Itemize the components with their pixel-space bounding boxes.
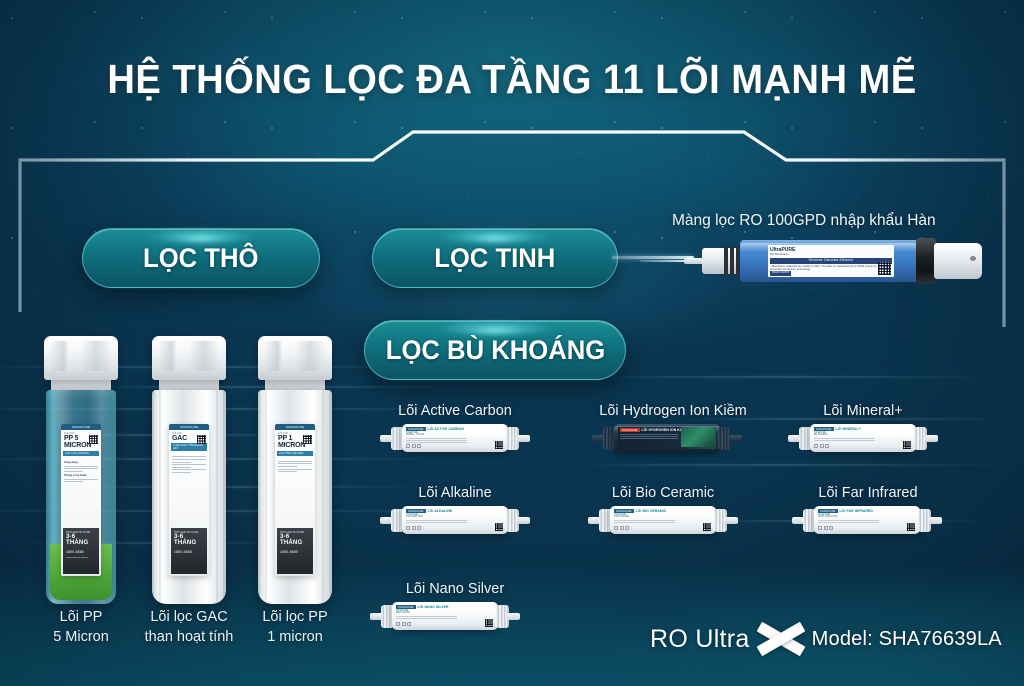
cartridge-title: LÕI FAR INFRARED bbox=[840, 509, 873, 513]
cartridge-strip: LỌC TINH CẶN BẨN bbox=[277, 451, 313, 456]
qr-code-icon bbox=[495, 523, 503, 531]
cartridge-strip: LỌC THÔ CẶN BẨN bbox=[63, 451, 99, 456]
qr-code-icon bbox=[703, 523, 711, 531]
membrane-end-cap bbox=[934, 243, 982, 279]
cartridge-spec-block: Công dụng Thông số kỹ thuật bbox=[61, 457, 101, 486]
badge-fine-filter[interactable]: LỌC TINH bbox=[372, 228, 618, 288]
membrane-wire bbox=[640, 260, 686, 262]
cartridge-lifetime-block: THỜI GIAN SỬ DỤNG 3-6 THÁNG 1800-6680 bbox=[277, 528, 313, 574]
cartridge-spec-block bbox=[169, 453, 209, 477]
cartridge-title: LÕI NANO SILVER bbox=[418, 605, 449, 609]
cartridge-mineral-plus: SUNHOUSE LÕI MINERAL+ UltraPURE BÙ KHOÁN… bbox=[788, 423, 938, 453]
cartridge-code: TẠO KHOÁNG bbox=[614, 516, 712, 518]
qr-code-icon bbox=[303, 435, 312, 444]
membrane-nozzle bbox=[702, 248, 740, 274]
ro-membrane-caption: Màng lọc RO 100GPD nhập khẩu Hàn bbox=[672, 212, 936, 230]
cartridge-hotline: 1800-6680 bbox=[174, 550, 204, 554]
housing-pp1: SUNHOUSE LÕI LỌC PP 1 MICRON LỌC TINH CẶ… bbox=[258, 336, 332, 604]
cartridge-code: BÙ KHOÁNG bbox=[814, 434, 912, 436]
housing-cap bbox=[152, 336, 226, 380]
membrane-port-hole bbox=[970, 256, 976, 261]
label-mineral-plus: Lõi Mineral+ bbox=[748, 403, 978, 419]
cartridge-period: 3-6 THÁNG bbox=[174, 534, 204, 546]
badge-fine-label: LỌC TINH bbox=[434, 243, 555, 274]
cartridge-stem-right bbox=[729, 435, 742, 442]
qr-code-icon bbox=[197, 435, 206, 444]
brand-name: RO Ultra bbox=[650, 625, 750, 654]
ro-membrane-image: UltraPURE RO Membrane Reverse Osmosis El… bbox=[684, 238, 988, 284]
cartridge-code: DIỆT KHUẨN bbox=[396, 612, 494, 614]
label-bio-ceramic: Lõi Bio Ceramic bbox=[548, 485, 778, 501]
connector-line bbox=[612, 256, 694, 259]
housing-label-line2: 5 Micron bbox=[20, 628, 142, 648]
qr-code-icon bbox=[89, 435, 98, 444]
cartridge-title: LÕI ALKALINE bbox=[428, 509, 453, 513]
cartridge-code: HOẠT HÓA NƯỚC bbox=[818, 516, 916, 518]
cartridge-period: 3-6 THÁNG bbox=[280, 534, 310, 546]
membrane-product-label: UltraPURE RO Membrane Reverse Osmosis El… bbox=[768, 245, 894, 277]
cartridge-stem-right bbox=[925, 435, 938, 442]
poster-canvas: HỆ THỐNG LỌC ĐA TẦNG 11 LÕI MẠNH MẼ LỌC … bbox=[0, 0, 1024, 686]
x-mark-icon bbox=[759, 624, 803, 654]
housing-gac: SUNHOUSE LÕI LỌC GAC THAN HOẠT TÍNH DẠNG… bbox=[152, 336, 226, 604]
badge-mineral-label: LỌC BÙ KHOÁNG bbox=[385, 335, 604, 366]
housing-bowl-opaque: SUNHOUSE LÕI LỌC PP 1 MICRON LỌC TINH CẶ… bbox=[258, 390, 332, 604]
cartridge-alkaline: SUNHOUSE LÕI ALKALINE UltraPURE TẠO KIỀM… bbox=[380, 505, 530, 535]
cartridge-spec-title2: Thông số kỹ thuật bbox=[64, 474, 98, 477]
cartridge-title: LÕI ACTIVE CARBON bbox=[428, 427, 464, 431]
housing-bowl-opaque: SUNHOUSE LÕI LỌC GAC THAN HOẠT TÍNH DẠNG… bbox=[152, 390, 226, 604]
housing-gac-label: Lõi lọc GAC than hoạt tính bbox=[128, 608, 250, 647]
cartridge-label-art bbox=[681, 427, 715, 447]
cartridge-stem-right bbox=[929, 517, 942, 524]
cartridge-active-carbon: SUNHOUSE LÕI ACTIVE CARBON UltraPURE MOD… bbox=[380, 423, 530, 453]
cartridge-brand: SUNHOUSE bbox=[620, 428, 640, 432]
cartridge-period-title: THỜI GIAN SỬ DỤNG bbox=[280, 531, 310, 534]
cartridge-period: 3-6 THÁNG bbox=[66, 534, 96, 546]
housing-label-line1: Lõi lọc PP bbox=[234, 608, 356, 628]
badge-coarse-filter[interactable]: LỌC THÔ bbox=[82, 228, 320, 288]
qr-code-icon bbox=[878, 262, 891, 275]
label-far-infrared: Lõi Far Infrared bbox=[768, 485, 968, 501]
housing-pp5-label: Lõi PP 5 Micron bbox=[20, 608, 142, 647]
qr-code-icon bbox=[485, 619, 493, 627]
membrane-label-bar: Reverse Osmosis Element bbox=[770, 258, 892, 264]
housing-pp5: SUNHOUSE LÕI LỌC PP 5 MICRON LỌC THÔ CẶN… bbox=[44, 336, 118, 604]
cartridge-label: SUNHOUSE LÕI MINERAL+ UltraPURE BÙ KHOÁN… bbox=[814, 427, 912, 449]
cartridge-stem-right bbox=[725, 517, 738, 524]
badge-coarse-label: LỌC THÔ bbox=[143, 243, 258, 274]
page-title: HỆ THỐNG LỌC ĐA TẦNG 11 LÕI MẠNH MẼ bbox=[36, 56, 988, 103]
housing-cap bbox=[44, 336, 118, 380]
qr-code-icon bbox=[495, 441, 503, 449]
cartridge-title: LÕI MINERAL+ bbox=[836, 427, 861, 431]
membrane-oring bbox=[730, 246, 734, 276]
housing-neck bbox=[51, 380, 111, 390]
cartridge-code: TẠO KIỀM TÍNH bbox=[406, 516, 504, 518]
cartridge-website: www.sunhouse.com.vn bbox=[66, 557, 96, 559]
membrane-label-sub: RO Membrane bbox=[770, 253, 892, 256]
cartridge-hydrogen-ion: SUNHOUSE LÕI HYDROGEN ION KIỀM bbox=[592, 423, 742, 453]
badge-mineral-filter[interactable]: LỌC BÙ KHOÁNG bbox=[364, 320, 626, 380]
cartridge-title: LÕI HYDROGEN ION KIỀM bbox=[642, 428, 687, 432]
housing-pp1-label: Lõi lọc PP 1 micron bbox=[234, 608, 356, 647]
model-number: Model: SHA76639LA bbox=[812, 628, 1002, 651]
qr-code-icon bbox=[903, 441, 911, 449]
cartridge-period-title: THỜI GIAN SỬ DỤNG bbox=[66, 531, 96, 534]
cartridge-label: SUNHOUSE LÕI HYDROGEN ION KIỀM bbox=[618, 427, 716, 449]
cartridge-stem-right bbox=[507, 613, 520, 620]
cartridge-pp5: SUNHOUSE LÕI LỌC PP 5 MICRON LỌC THÔ CẶN… bbox=[61, 424, 101, 576]
cartridge-lifetime-block: THỜI GIAN SỬ DỤNG 3-6 THÁNG 1800-6680 ww… bbox=[63, 528, 99, 574]
membrane-label-tag: MGR 100PD bbox=[770, 271, 791, 276]
cartridge-hotline: 1800-6680 bbox=[66, 550, 96, 554]
housing-neck bbox=[265, 380, 325, 390]
housing-label-line2: than hoạt tính bbox=[128, 628, 250, 648]
housing-bowl-clear: SUNHOUSE LÕI LỌC PP 5 MICRON LỌC THÔ CẶN… bbox=[46, 390, 116, 604]
cartridge-lifetime-block: THỜI GIAN SỬ DỤNG 3-6 THÁNG 1800-6680 bbox=[171, 528, 207, 574]
cartridge-title: LÕI BIO CERAMIC bbox=[636, 509, 667, 513]
cartridge-label: SUNHOUSE LÕI FAR INFRARED UltraPURE HOẠT… bbox=[818, 509, 916, 531]
cartridge-far-infrared: SUNHOUSE LÕI FAR INFRARED UltraPURE HOẠT… bbox=[792, 505, 942, 535]
cartridge-period-title: THỜI GIAN SỬ DỤNG bbox=[174, 531, 204, 534]
housing-cap bbox=[258, 336, 332, 380]
cartridge-stem-right bbox=[517, 517, 530, 524]
housing-label-line2: 1 micron bbox=[234, 628, 356, 648]
membrane-oring bbox=[724, 246, 728, 276]
cartridge-spec-block bbox=[275, 457, 315, 476]
cartridge-nano-silver: SUNHOUSE LÕI NANO SILVER UltraPURE DIỆT … bbox=[370, 601, 520, 631]
cartridge-bio-ceramic: SUNHOUSE LÕI BIO CERAMIC UltraPURE TẠO K… bbox=[588, 505, 738, 535]
cartridge-label: SUNHOUSE LÕI BIO CERAMIC UltraPURE TẠO K… bbox=[614, 509, 712, 531]
cartridge-label: SUNHOUSE LÕI NANO SILVER UltraPURE DIỆT … bbox=[396, 605, 494, 627]
cartridge-hotline: 1800-6680 bbox=[280, 550, 310, 554]
cartridge-code: MODEL - T33-CB bbox=[406, 434, 504, 436]
cartridge-stem-right bbox=[517, 435, 530, 442]
cartridge-pp1: SUNHOUSE LÕI LỌC PP 1 MICRON LỌC TINH CẶ… bbox=[275, 424, 315, 576]
cartridge-label: SUNHOUSE LÕI ALKALINE UltraPURE TẠO KIỀM… bbox=[406, 509, 504, 531]
cartridge-gac: SUNHOUSE LÕI LỌC GAC THAN HOẠT TÍNH DẠNG… bbox=[169, 424, 209, 576]
housing-label-line1: Lõi lọc GAC bbox=[128, 608, 250, 628]
footer-brand: RO Ultra Model: SHA76639LA bbox=[650, 624, 1002, 654]
cartridge-spec-title: Công dụng bbox=[64, 461, 98, 464]
qr-code-icon bbox=[907, 523, 915, 531]
label-nano-silver: Lõi Nano Silver bbox=[340, 581, 570, 597]
cartridge-strip: THAN HOẠT TÍNH DẠNG HẠT bbox=[171, 443, 207, 451]
housing-label-line1: Lõi PP bbox=[20, 608, 142, 628]
cartridge-label: SUNHOUSE LÕI ACTIVE CARBON UltraPURE MOD… bbox=[406, 427, 504, 449]
membrane-seal-band bbox=[916, 238, 936, 284]
housing-neck bbox=[159, 380, 219, 390]
label-alkaline: Lõi Alkaline bbox=[340, 485, 570, 501]
